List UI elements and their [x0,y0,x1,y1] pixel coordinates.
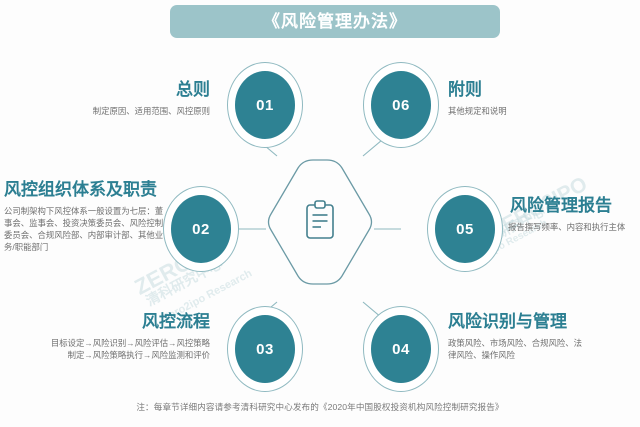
node-circle-06[interactable]: 06 [363,62,439,148]
node-circle-03[interactable]: 03 [227,306,303,392]
node-circle-04[interactable]: 04 [363,306,439,392]
node-disc-04: 04 [371,315,431,383]
center-hexagon [269,160,372,284]
footnote: 注：每章节详细内容请参考清科研究中心发布的《2020年中国股权投资机构风险控制研… [0,401,640,413]
node-disc-05: 05 [435,195,495,263]
section-heading-02: 风控组织体系及职责 [4,180,194,200]
section-description-06: 其他规定和说明 [448,105,633,117]
node-disc-06: 06 [371,71,431,139]
section-heading-05: 风险管理报告 [510,196,638,216]
section-block-03: 风控流程 目标设定→风险识别→风险评估→风控策略制定→风险策略执行→风险监测和评… [46,312,210,361]
section-description-03: 目标设定→风险识别→风险评估→风控策略制定→风险策略执行→风险监测和评价 [46,337,210,361]
section-description-01: 制定原因、适用范围、风控原则 [30,105,210,117]
node-disc-01: 01 [235,71,295,139]
node-number-04: 04 [392,341,410,358]
section-description-02: 公司制架构下风控体系一般设置为七层：董事会、监事会、投资决策委员会、风险控制委员… [4,205,169,254]
section-heading-06: 附则 [448,80,633,100]
infographic-canvas: 《风险管理办法》 ZERO2IPO 清科研究中心 Zero2ipo Resear… [0,0,640,427]
section-block-01: 总则 制定原因、适用范围、风控原则 [30,80,210,117]
node-number-06: 06 [392,97,410,114]
node-disc-03: 03 [235,315,295,383]
node-number-01: 01 [256,97,274,114]
node-number-03: 03 [256,341,274,358]
node-circle-01[interactable]: 01 [227,62,303,148]
section-block-06: 附则 其他规定和说明 [448,80,633,117]
section-block-05: 风险管理报告 报告撰写频率、内容和执行主体 [510,196,638,233]
node-number-02: 02 [192,221,210,238]
node-number-05: 05 [456,221,474,238]
section-description-04: 政策风险、市场风险、合规风险、法律风险、操作风险 [448,337,583,361]
clipboard-icon [307,201,333,238]
section-description-05: 报告撰写频率、内容和执行主体 [508,221,638,233]
section-heading-04: 风险识别与管理 [448,312,638,332]
section-block-04: 风险识别与管理 政策风险、市场风险、合规风险、法律风险、操作风险 [448,312,638,361]
connector-line-06 [363,140,382,156]
section-heading-03: 风控流程 [46,312,210,332]
section-heading-01: 总则 [30,80,210,100]
node-circle-05[interactable]: 05 [427,186,503,272]
section-block-02: 风控组织体系及职责 公司制架构下风控体系一般设置为七层：董事会、监事会、投资决策… [4,180,194,253]
